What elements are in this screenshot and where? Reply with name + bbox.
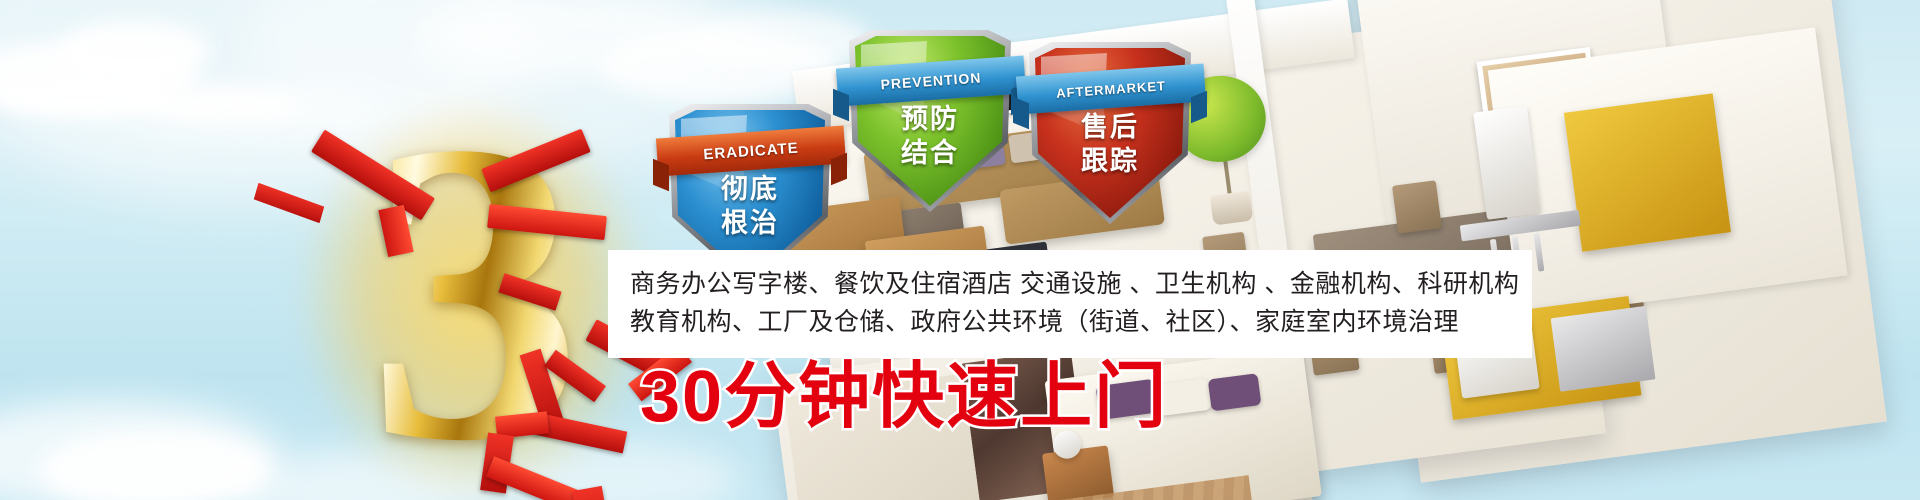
shield-sash-label: AFTERMARKET [1056,78,1167,101]
service-scope-textbox: 商务办公写字楼、餐饮及住宿酒店 交通设施 、卫生机构 、金融机构、科研机构 教育… [608,250,1532,358]
headline-30min-service: 30分钟快速上门 [640,358,1168,436]
shield-chinese-line2: 根治 [675,208,825,238]
promo-banner: 3 ERADICATE 彻底 根治 [0,0,1920,500]
shield-chinese-line1: 彻底 [675,174,825,204]
shield-sash-label: ERADICATE [703,139,799,163]
shield-chinese-line1: 预防 [855,104,1005,134]
kitchen-cabinet [1564,93,1731,251]
shield-chinese-line2: 结合 [855,138,1005,168]
cloud-icon [150,88,300,122]
shield-chinese-line2: 跟踪 [1035,146,1185,176]
service-scope-line-1: 商务办公写字楼、餐饮及住宿酒店 交通设施 、卫生机构 、金融机构、科研机构 [630,270,1519,298]
shield-sash-label: PREVENTION [880,69,982,92]
cloud-icon [60,20,210,80]
service-scope-line-2: 教育机构、工厂及仓储、政府公共环境（街道、社区）、家庭室内环境治理 [630,308,1459,336]
shield-chinese-line1: 售后 [1035,112,1185,142]
